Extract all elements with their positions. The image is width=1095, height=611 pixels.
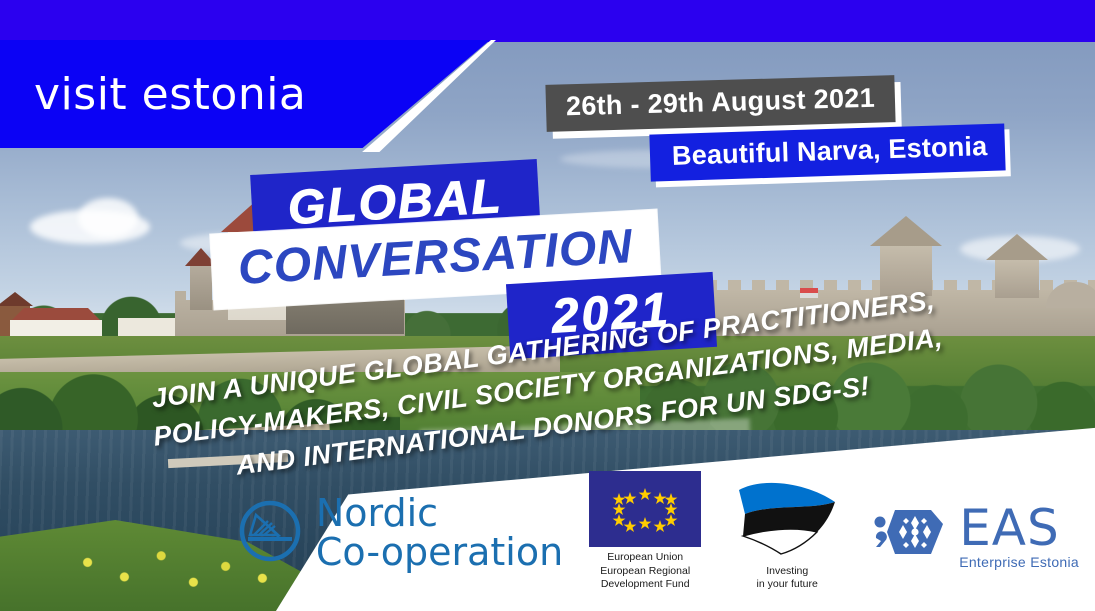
eu-flag-icon — [589, 471, 701, 547]
top-color-strip — [0, 0, 1095, 42]
logo-european-union[interactable]: European Union European Regional Develop… — [589, 471, 701, 597]
sponsor-logo-row: Nordic Co-operation — [0, 426, 1095, 611]
eas-wordmark: EAS Enterprise Estonia — [959, 503, 1079, 569]
visit-estonia-logo[interactable]: visit estonia — [34, 69, 306, 120]
estonia-caption-line-2: in your future — [727, 578, 847, 591]
event-dates-badge: 26th - 29th August 2021 — [545, 75, 895, 132]
nordic-line-2: Co-operation — [316, 533, 563, 573]
logo-eas-enterprise-estonia[interactable]: EAS Enterprise Estonia — [873, 500, 1079, 597]
eu-caption-line-1: European Union — [589, 551, 701, 564]
narva-castle-minor-tower — [190, 266, 212, 310]
eas-acronym: EAS — [959, 503, 1079, 553]
nordic-wordmark: Nordic Co-operation — [316, 494, 563, 573]
eu-caption-line-3: Development Fund — [589, 578, 701, 591]
nordic-line-1: Nordic — [316, 494, 563, 534]
eu-caption: European Union European Regional Develop… — [589, 551, 701, 591]
estonia-caption: Investing in your future — [727, 565, 847, 591]
logo-investing-in-your-future[interactable]: Investing in your future — [727, 480, 847, 597]
estonian-flag-icon — [735, 545, 839, 562]
cloud — [78, 198, 138, 238]
eas-emblem-icon — [873, 500, 947, 571]
eu-caption-line-2: European Regional — [589, 565, 701, 578]
eas-subtitle: Enterprise Estonia — [959, 555, 1079, 569]
event-poster: visit estonia 26th - 29th August 2021 Be… — [0, 0, 1095, 611]
ivangorod-tower — [995, 260, 1039, 298]
logo-nordic-cooperation[interactable]: Nordic Co-operation — [238, 494, 563, 597]
estonia-caption-line-1: Investing — [727, 565, 847, 578]
nordic-swan-icon — [238, 499, 302, 568]
